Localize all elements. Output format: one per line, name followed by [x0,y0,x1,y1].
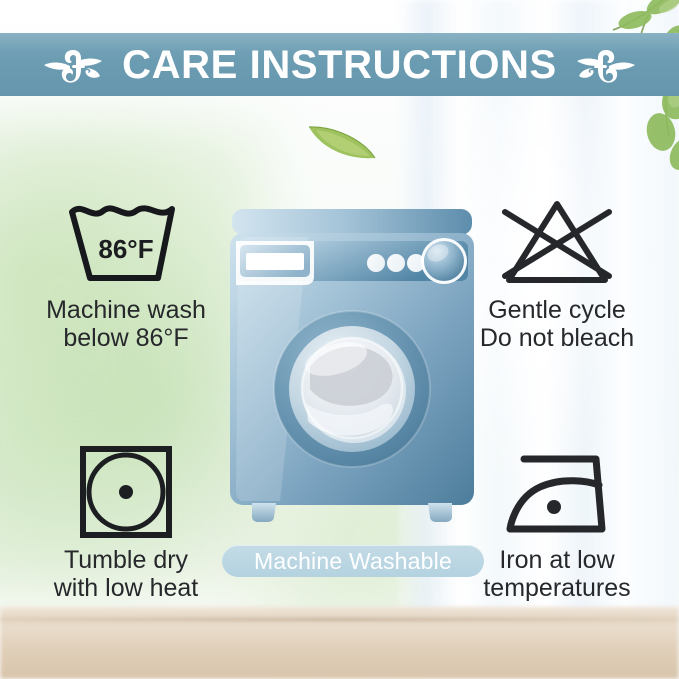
triangle-crossed-bleach-icon [495,196,619,288]
floating-leaf-decoration [306,118,378,164]
machine-washable-badge-label: Machine Washable [254,550,452,573]
bleach-icon-wrap [495,194,619,290]
care-item-iron: Iron at low temperatures [447,444,667,602]
header-banner: CARE INSTRUCTIONS [0,33,679,96]
tumble-dry-low-icon [78,444,174,540]
iron-low-heat-icon [496,447,618,537]
care-caption-do-not-bleach: Gentle cycle Do not bleach [480,296,634,352]
care-caption-machine-wash: Machine wash below 86°F [46,296,206,352]
care-caption-iron: Iron at low temperatures [483,546,630,602]
tumble-dry-icon-wrap [78,444,174,540]
machine-washable-badge: Machine Washable [222,545,484,577]
background-wood-edge-line [0,618,679,621]
fleur-de-lis-icon-left [40,44,104,86]
care-item-do-not-bleach: Gentle cycle Do not bleach [447,194,667,352]
washing-machine-illustration [228,207,476,529]
iron-icon-wrap [496,444,618,540]
wash-tub-icon: 86°F [62,196,190,288]
care-item-machine-wash: 86°F Machine wash below 86°F [16,194,236,352]
plant-sprig-decoration [557,0,679,196]
wash-tub-icon-wrap: 86°F [62,194,190,290]
care-instructions-infographic: CARE INSTRUCTIONS 86°F Machine wash bel [0,0,679,679]
care-item-tumble-dry: Tumble dry with low heat [16,444,236,602]
fleur-de-lis-icon-right [575,44,639,86]
page-title: CARE INSTRUCTIONS [122,45,557,85]
care-caption-tumble-dry: Tumble dry with low heat [54,546,199,602]
